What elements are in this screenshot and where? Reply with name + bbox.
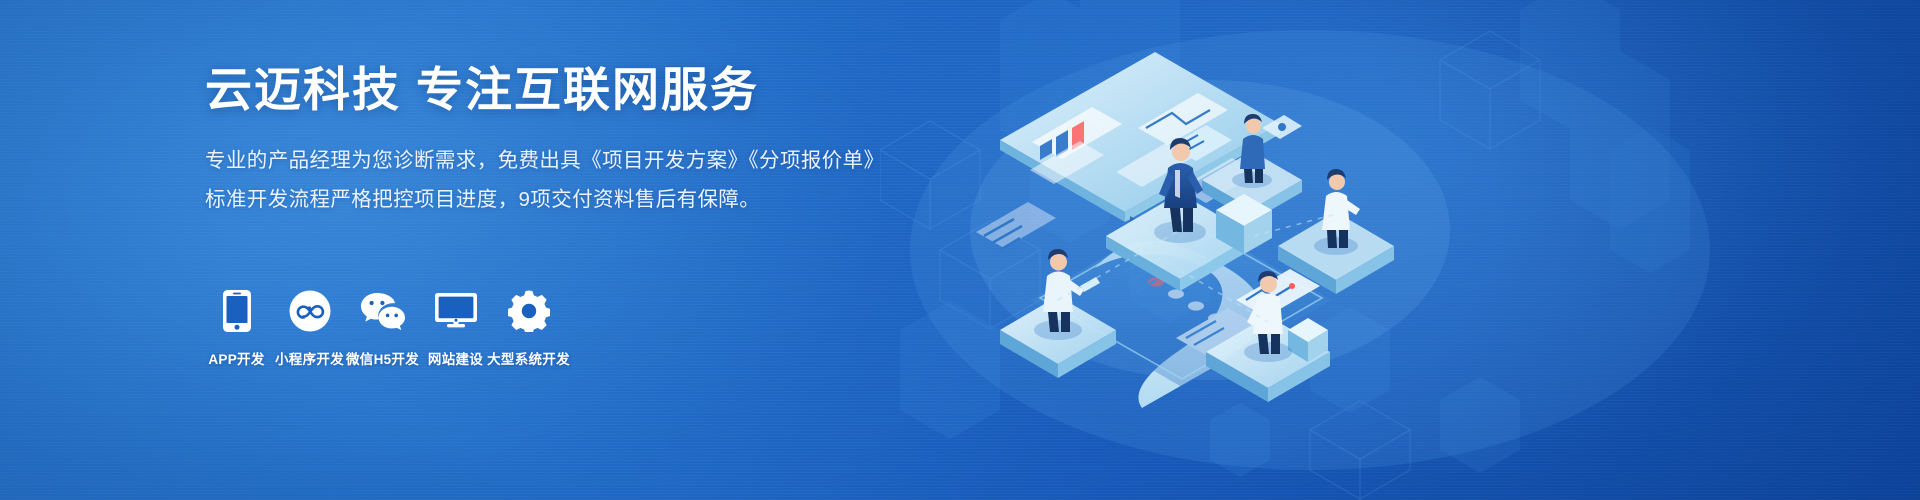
service-item-wechat-h5[interactable]: 微信H5开发 xyxy=(346,288,419,368)
hero-banner: 云迈科技 专注互联网服务 专业的产品经理为您诊断需求，免费出具《项目开发方案》《… xyxy=(0,0,1920,500)
subtitle-line-2: 标准开发流程严格把控项目进度，9项交付资料售后有保障。 xyxy=(205,182,925,218)
service-label: 小程序开发 xyxy=(275,348,344,368)
page-title: 云迈科技 专注互联网服务 xyxy=(205,62,925,117)
service-item-app[interactable]: APP开发 xyxy=(200,288,273,368)
service-list: APP开发 小程序开发 xyxy=(200,288,565,368)
service-label: 大型系统开发 xyxy=(487,348,570,368)
service-item-website[interactable]: 网站建设 xyxy=(419,288,492,368)
gear-icon xyxy=(508,288,550,334)
service-item-miniprogram[interactable]: 小程序开发 xyxy=(273,288,346,368)
service-item-large-system[interactable]: 大型系统开发 xyxy=(492,288,565,368)
service-label: APP开发 xyxy=(208,348,264,368)
mobile-phone-icon xyxy=(222,288,252,334)
service-label: 微信H5开发 xyxy=(346,348,419,368)
isometric-tech-illustration xyxy=(880,0,1920,500)
banner-copy: 云迈科技 专注互联网服务 专业的产品经理为您诊断需求，免费出具《项目开发方案》《… xyxy=(205,62,925,218)
wechat-icon xyxy=(360,288,406,334)
subtitle-line-1: 专业的产品经理为您诊断需求，免费出具《项目开发方案》《分项报价单》 xyxy=(205,143,925,179)
monitor-icon xyxy=(434,288,478,334)
service-label: 网站建设 xyxy=(428,348,483,368)
mini-program-icon xyxy=(289,288,331,334)
